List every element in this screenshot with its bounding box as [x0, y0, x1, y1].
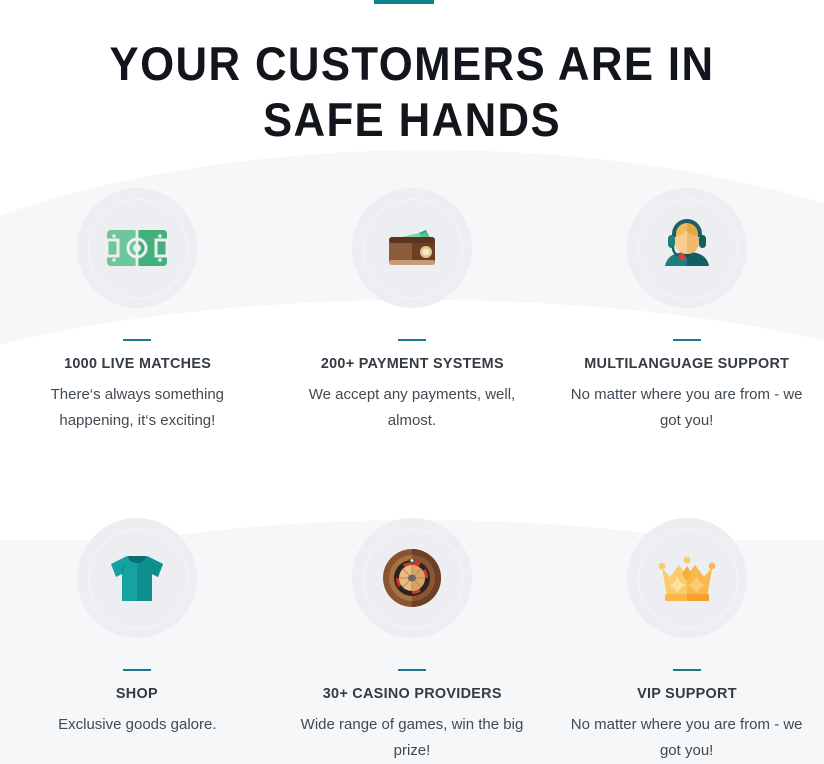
support-agent-headset-icon — [651, 212, 723, 284]
tshirt-icon — [101, 542, 173, 614]
feature-card-shop[interactable]: SHOP Exclusive goods galore. — [0, 518, 275, 764]
roulette-wheel-icon — [376, 542, 448, 614]
feature-title: 200+ PAYMENT SYSTEMS — [320, 355, 503, 372]
feature-card-vip-support[interactable]: VIP SUPPORT No matter where you are from… — [549, 518, 824, 764]
icon-circle — [77, 518, 197, 638]
feature-description: Exclusive goods galore. — [58, 712, 216, 738]
crown-icon — [651, 542, 723, 614]
wallet-icon — [376, 212, 448, 284]
feature-description: We accept any payments, well, almost. — [296, 382, 528, 434]
feature-description: Wide range of games, win the big prize! — [296, 712, 528, 764]
feature-grid-row-2: SHOP Exclusive goods galore. — [0, 474, 824, 764]
title-divider — [398, 339, 426, 341]
safe-hands-section: YOUR CUSTOMERS ARE IN SAFE HANDS — [0, 0, 824, 764]
icon-circle — [352, 518, 472, 638]
icon-circle — [352, 188, 472, 308]
page-title: YOUR CUSTOMERS ARE IN SAFE HANDS — [45, 36, 780, 148]
feature-title: 1000 LIVE MATCHES — [64, 355, 211, 372]
feature-title: SHOP — [116, 685, 158, 702]
icon-circle — [627, 518, 747, 638]
feature-title: 30+ CASINO PROVIDERS — [322, 685, 501, 702]
top-accent-bar — [374, 0, 434, 4]
feature-card-multilanguage-support[interactable]: MULTILANGUAGE SUPPORT No matter where yo… — [549, 188, 824, 434]
feature-description: No matter where you are from - we got yo… — [571, 382, 803, 434]
title-divider — [673, 339, 701, 341]
feature-card-live-matches[interactable]: 1000 LIVE MATCHES There‘s always somethi… — [0, 188, 275, 434]
title-divider — [123, 339, 151, 341]
feature-title: VIP SUPPORT — [637, 685, 737, 702]
title-divider — [398, 669, 426, 671]
feature-description: No matter where you are from - we got yo… — [571, 712, 803, 764]
icon-circle — [627, 188, 747, 308]
soccer-pitch-icon — [101, 212, 173, 284]
feature-card-payment-systems[interactable]: 200+ PAYMENT SYSTEMS We accept any payme… — [275, 188, 550, 434]
icon-circle — [77, 188, 197, 308]
title-divider — [123, 669, 151, 671]
title-divider — [673, 669, 701, 671]
feature-grid-row-1: 1000 LIVE MATCHES There‘s always somethi… — [0, 188, 824, 434]
feature-card-casino-providers[interactable]: 30+ CASINO PROVIDERS Wide range of games… — [275, 518, 550, 764]
feature-description: There‘s always something happening, it‘s… — [21, 382, 253, 434]
feature-title: MULTILANGUAGE SUPPORT — [584, 355, 789, 372]
